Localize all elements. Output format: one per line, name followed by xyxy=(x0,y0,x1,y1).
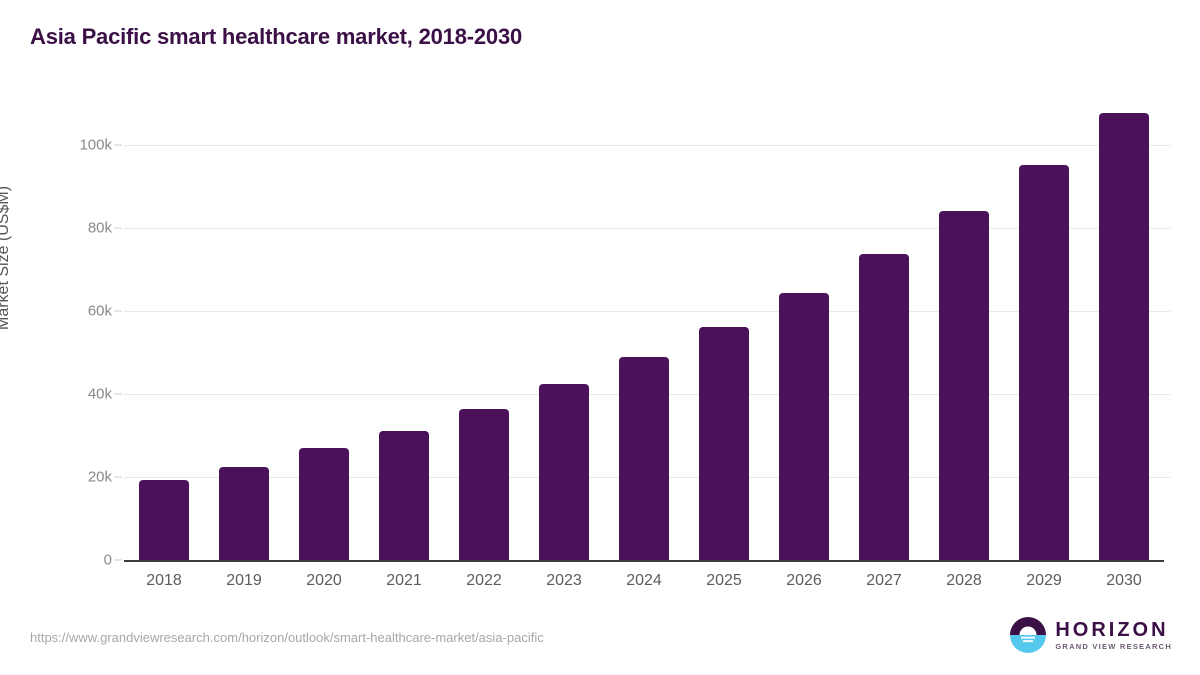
bar[interactable] xyxy=(1099,113,1149,560)
y-tick-mark xyxy=(114,477,122,478)
bar[interactable] xyxy=(699,327,749,560)
y-tick-label: 0 xyxy=(104,552,112,569)
logo-subtitle: GRAND VIEW RESEARCH xyxy=(1055,643,1172,651)
logo-wordmark: HORIZON xyxy=(1055,620,1172,640)
y-tick-mark xyxy=(114,394,122,395)
chart-card: Asia Pacific smart healthcare market, 20… xyxy=(0,0,1200,675)
horizon-logo-icon xyxy=(1010,617,1046,653)
y-tick-label: 40k xyxy=(88,386,112,403)
bar[interactable] xyxy=(139,480,189,561)
x-tick-label: 2029 xyxy=(1004,572,1084,590)
y-tick-mark xyxy=(114,311,122,312)
logo-text: HORIZON GRAND VIEW RESEARCH xyxy=(1055,620,1172,651)
y-tick-mark xyxy=(114,228,122,229)
x-tick-label: 2030 xyxy=(1084,572,1164,590)
bar[interactable] xyxy=(379,431,429,560)
x-tick-label: 2021 xyxy=(364,572,444,590)
y-tick-label: 60k xyxy=(88,303,112,320)
x-tick-label: 2019 xyxy=(204,572,284,590)
bar[interactable] xyxy=(459,409,509,560)
x-tick-label: 2020 xyxy=(284,572,364,590)
y-tick-label: 80k xyxy=(88,220,112,237)
y-tick-mark xyxy=(114,145,122,146)
x-axis-ticks: 2018201920202021202220232024202520262027… xyxy=(124,572,1170,598)
bar[interactable] xyxy=(859,254,909,560)
x-tick-label: 2022 xyxy=(444,572,524,590)
x-tick-label: 2028 xyxy=(924,572,1004,590)
x-axis-line xyxy=(124,560,1164,562)
bar[interactable] xyxy=(539,384,589,560)
bar[interactable] xyxy=(779,293,829,560)
y-tick-label: 20k xyxy=(88,469,112,486)
source-url[interactable]: https://www.grandviewresearch.com/horizo… xyxy=(30,630,544,645)
bar[interactable] xyxy=(619,357,669,560)
bars-layer xyxy=(124,145,1170,560)
x-tick-label: 2027 xyxy=(844,572,924,590)
bar[interactable] xyxy=(299,448,349,560)
bar[interactable] xyxy=(219,467,269,560)
y-tick-mark xyxy=(114,560,122,561)
page-title: Asia Pacific smart healthcare market, 20… xyxy=(30,24,522,50)
bar[interactable] xyxy=(939,211,989,560)
logo[interactable]: HORIZON GRAND VIEW RESEARCH xyxy=(1010,617,1172,653)
y-tick-label: 100k xyxy=(79,137,112,154)
bar[interactable] xyxy=(1019,165,1069,560)
x-tick-label: 2018 xyxy=(124,572,204,590)
x-tick-label: 2026 xyxy=(764,572,844,590)
x-tick-label: 2025 xyxy=(684,572,764,590)
x-tick-label: 2023 xyxy=(524,572,604,590)
x-tick-label: 2024 xyxy=(604,572,684,590)
y-axis-ticks: 020k40k60k80k100k xyxy=(0,100,112,570)
